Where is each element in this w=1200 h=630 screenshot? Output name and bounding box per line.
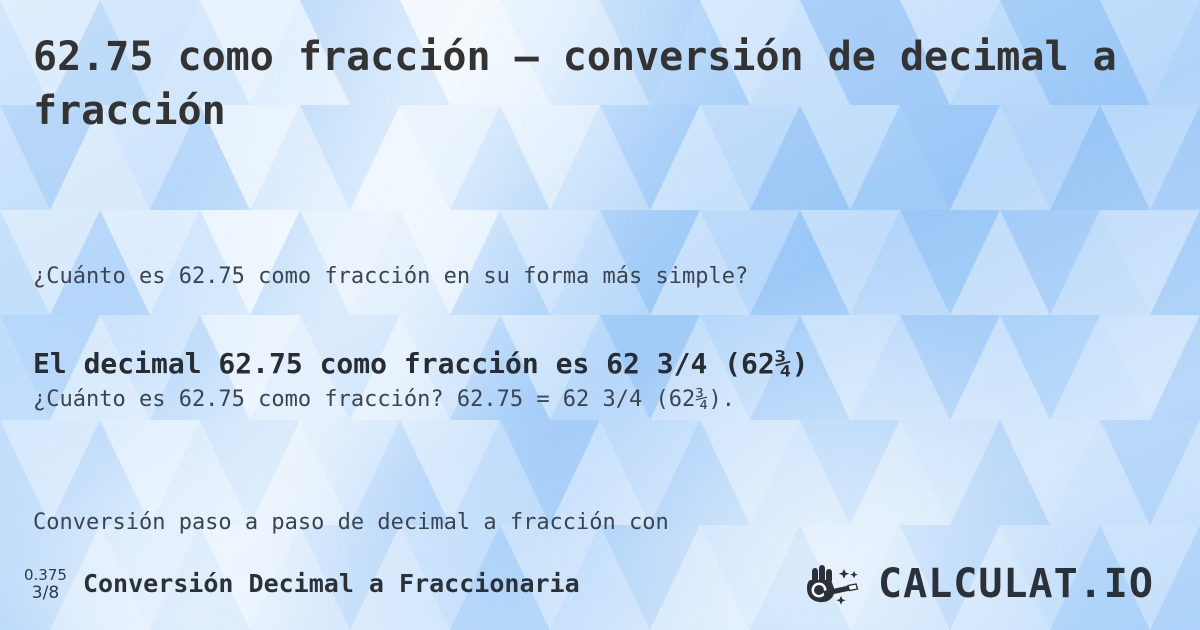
intro-line-2: ¿Cuánto es 62.75 como fracción? 62.75 = … xyxy=(33,379,1143,420)
answer-statement: El decimal 62.75 como fracción es 62 3/4… xyxy=(33,344,1173,384)
footer-left-group: 0.375 3/8 Conversión Decimal a Fracciona… xyxy=(24,565,580,603)
decimal-fraction-icon-decimal: 0.375 xyxy=(24,567,67,584)
intro-line-3: Conversión paso a paso de decimal a frac… xyxy=(33,502,1143,543)
card-content: 62.75 como fracción – conversión de deci… xyxy=(0,0,1200,630)
decimal-fraction-icon-fraction: 3/8 xyxy=(32,584,59,603)
footer-bar: 0.375 3/8 Conversión Decimal a Fracciona… xyxy=(0,538,1200,630)
footer-site-title: Conversión Decimal a Fraccionaria xyxy=(83,569,580,598)
magic-wand-hand-icon xyxy=(804,560,874,608)
brand-logo[interactable]: CALCULAT.IO xyxy=(804,560,1174,608)
brand-wordmark-text: CALCULAT.IO xyxy=(878,561,1154,607)
intro-line-1: ¿Cuánto es 62.75 como fracción en su for… xyxy=(33,256,1143,297)
og-image-card: 62.75 como fracción – conversión de deci… xyxy=(0,0,1200,630)
brand-wordmark: CALCULAT.IO xyxy=(878,561,1174,607)
page-title: 62.75 como fracción – conversión de deci… xyxy=(33,30,1133,138)
decimal-fraction-icon: 0.375 3/8 xyxy=(24,565,67,603)
